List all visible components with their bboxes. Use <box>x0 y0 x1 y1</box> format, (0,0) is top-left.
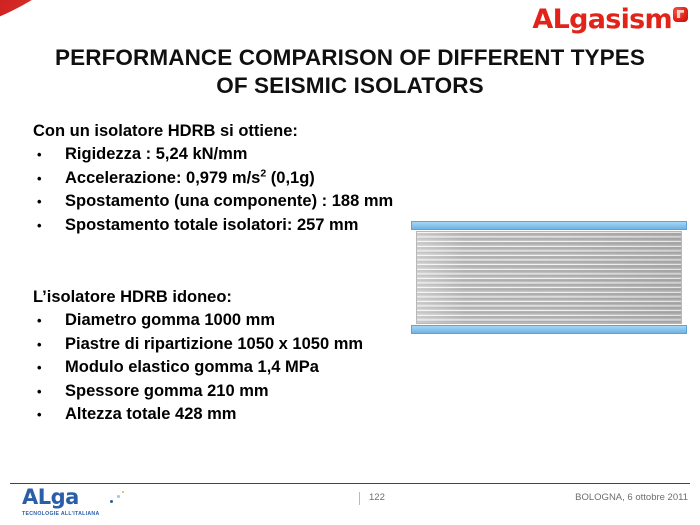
algasism-badge-icon <box>673 7 688 22</box>
footer-logo-lower: ga <box>51 485 79 509</box>
list-item-label-post: (0,1g) <box>266 169 315 187</box>
swoosh-outer-shape <box>0 0 122 42</box>
list-item-label-pre: Accelerazione: 0,979 m/s <box>65 169 260 187</box>
bullet-icon: • <box>33 406 65 424</box>
slide-canvas: ALgasism PERFORMANCE COMPARISON OF DIFFE… <box>0 0 700 525</box>
list-item-label: Piastre di ripartizione 1050 x 1050 mm <box>65 333 363 356</box>
list-item-label: Spostamento totale isolatori: 257 mm <box>65 214 358 237</box>
list-item-label: Spessore gomma 210 mm <box>65 380 269 403</box>
list-item: • Diametro gomma 1000 mm <box>33 309 363 332</box>
isolator-bottom-plate <box>411 325 687 334</box>
page-title: PERFORMANCE COMPARISON OF DIFFERENT TYPE… <box>22 44 678 100</box>
brand-logo-lower: gasism <box>569 4 672 35</box>
bullet-icon: • <box>33 146 65 164</box>
bullet-icon: • <box>33 383 65 401</box>
list-item-label: Altezza totale 428 mm <box>65 403 236 426</box>
list-item-label: Rigidezza : 5,24 kN/mm <box>65 143 247 166</box>
hdrb-isolator-cross-section <box>411 221 687 334</box>
bullet-icon: • <box>33 217 65 235</box>
content-block-specification: L’isolatore HDRB idoneo: • Diametro gomm… <box>33 286 363 426</box>
swoosh-inner-shape <box>0 0 78 28</box>
footer-logo: ALga TECNOLOGIE ALL’ITALIANA <box>22 487 142 517</box>
brand-logo-text: ALgasism <box>532 6 672 33</box>
list-item: • Rigidezza : 5,24 kN/mm <box>33 143 393 166</box>
block-a-heading: Con un isolatore HDRB si ottiene: <box>33 120 393 142</box>
list-item: • Piastre di ripartizione 1050 x 1050 mm <box>33 333 363 356</box>
list-item: • Altezza totale 428 mm <box>33 403 363 426</box>
list-item: • Accelerazione: 0,979 m/s2 (0,1g) <box>33 167 393 190</box>
bullet-icon: • <box>33 336 65 354</box>
footer-place-date: BOLOGNA, 6 ottobre 2011 <box>575 492 688 503</box>
list-item-label: Diametro gomma 1000 mm <box>65 309 275 332</box>
list-item: • Spostamento totale isolatori: 257 mm <box>33 214 393 237</box>
content-block-properties: Con un isolatore HDRB si ottiene: • Rigi… <box>33 120 393 237</box>
bullet-icon: • <box>33 312 65 330</box>
block-b-heading: L’isolatore HDRB idoneo: <box>33 286 363 308</box>
footer-logo-upper: AL <box>22 485 51 509</box>
isolator-top-plate <box>411 221 687 230</box>
page-title-line-2: OF SEISMIC ISOLATORS <box>22 72 678 100</box>
list-item: • Modulo elastico gomma 1,4 MPa <box>33 356 363 379</box>
list-item: • Spessore gomma 210 mm <box>33 380 363 403</box>
list-item: • Spostamento (una componente) : 188 mm <box>33 190 393 213</box>
footer-separator <box>359 492 360 505</box>
bullet-icon: • <box>33 170 65 188</box>
list-item-label: Accelerazione: 0,979 m/s2 (0,1g) <box>65 167 315 190</box>
list-item-label: Spostamento (una componente) : 188 mm <box>65 190 393 213</box>
bullet-icon: • <box>33 359 65 377</box>
isolator-rubber-steel-layers <box>416 231 682 324</box>
page-number: 122 <box>369 492 385 503</box>
list-item-label: Modulo elastico gomma 1,4 MPa <box>65 356 319 379</box>
footer-tagline: TECNOLOGIE ALL’ITALIANA <box>22 511 142 517</box>
brand-logo-upper: AL <box>532 4 569 35</box>
footer-dots-icon <box>108 490 130 506</box>
footer-divider <box>10 483 690 484</box>
bullet-icon: • <box>33 193 65 211</box>
brand-logo: ALgasism <box>532 6 688 33</box>
page-title-line-1: PERFORMANCE COMPARISON OF DIFFERENT TYPE… <box>22 44 678 72</box>
